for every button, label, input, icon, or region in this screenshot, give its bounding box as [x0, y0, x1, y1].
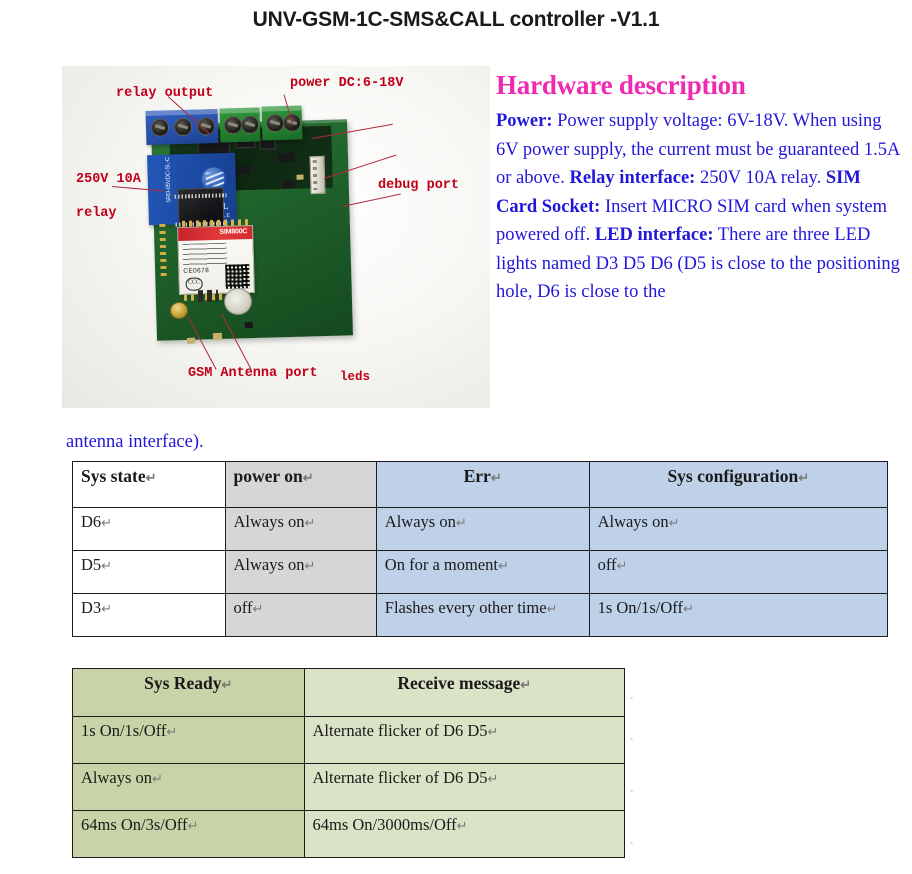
- annotation-relay-word: relay: [76, 206, 117, 221]
- cell-d5-sys-config: off↵: [589, 551, 887, 594]
- cell-text: 1s On/1s/Off: [598, 598, 683, 617]
- paragraph-mark: ↵: [221, 677, 232, 692]
- module-sticker-text: [183, 243, 228, 266]
- paragraph-mark: ↵: [188, 818, 199, 833]
- hardware-description-body: Power: Power supply voltage: 6V-18V. Whe…: [496, 107, 900, 307]
- cell-receive-alt-flicker-2: Alternate flicker of D6 D5↵: [304, 764, 624, 811]
- relay-interface-label: Relay interface:: [569, 168, 695, 188]
- cell-ready-always-on: Always on↵: [73, 764, 305, 811]
- paragraph-mark: ↵: [498, 558, 509, 573]
- cell-receive-alt-flicker-1: Alternate flicker of D6 D5↵: [304, 717, 624, 764]
- sys-state-table: Sys state↵ power on↵ Err↵ Sys configurat…: [72, 461, 888, 637]
- cell-d3-sys-config: 1s On/1s/Off↵: [589, 594, 887, 637]
- paragraph-mark: ↵: [798, 470, 809, 485]
- cell-text: off: [598, 555, 617, 574]
- cell-text: Always on: [234, 512, 305, 531]
- cell-text: Alternate flicker of D6 D5: [313, 721, 488, 740]
- cell-d5-err: On for a moment↵: [376, 551, 589, 594]
- relay-output-terminal-block: [146, 109, 219, 145]
- module-red-band: SIM800C: [178, 226, 252, 241]
- cell-d6-sys-config: Always on↵: [589, 508, 887, 551]
- paragraph-mark: ↵: [166, 724, 177, 739]
- cell-text: D6: [81, 512, 101, 531]
- cell-ready-1s-on: 1s On/1s/Off↵: [73, 717, 305, 764]
- cell-d6-power-on: Always on↵: [225, 508, 376, 551]
- cell-receive-64ms: 64ms On/3000ms/Off↵: [304, 811, 624, 858]
- paragraph-mark: ↵: [617, 558, 628, 573]
- cell-d5-name: D5↵: [73, 551, 226, 594]
- module-ccc-mark: CCC: [185, 277, 202, 290]
- cell-text: Always on: [81, 768, 152, 787]
- doc-artifact-mark: ·: [630, 837, 634, 849]
- smd-part-3: [296, 174, 303, 179]
- sim800c-module: SIM800C CE0678 CCC: [177, 225, 255, 295]
- debug-port-connector: [309, 156, 325, 194]
- module-cert-label: CE0678: [183, 267, 209, 275]
- terminal-screw: [174, 118, 192, 136]
- cell-text: D5: [81, 555, 101, 574]
- cell-text: 64ms On/3s/Off: [81, 815, 188, 834]
- relay-logo-bars: [206, 172, 224, 186]
- cell-text: Receive message: [397, 673, 520, 693]
- paragraph-mark: ↵: [457, 818, 468, 833]
- paragraph-mark: ↵: [305, 515, 316, 530]
- table-header-row: Sys state↵ power on↵ Err↵ Sys configurat…: [73, 462, 888, 508]
- cell-ready-64ms: 64ms On/3s/Off↵: [73, 811, 305, 858]
- cell-text: Sys Ready: [144, 673, 221, 693]
- cell-text: 64ms On/3000ms/Off: [313, 815, 457, 834]
- paragraph-mark: ↵: [101, 515, 112, 530]
- table-row: D6↵ Always on↵ Always on↵ Always on↵: [73, 508, 888, 551]
- paragraph-mark: ↵: [456, 515, 467, 530]
- table-header-row: Sys Ready↵ Receive message↵: [73, 669, 625, 717]
- table-row: Always on↵ Alternate flicker of D6 D5↵: [73, 764, 625, 811]
- paragraph-mark: ↵: [547, 601, 558, 616]
- cell-text: Always on: [385, 512, 456, 531]
- paragraph-mark: ↵: [101, 558, 112, 573]
- paragraph-mark: ↵: [491, 470, 502, 485]
- gsm-relay-board-figure: SRD-05VDC-SL-C UL SONGLE SIM800C CE0678 …: [62, 66, 490, 408]
- header-cell-sys-state: Sys state↵: [73, 462, 226, 508]
- paragraph-mark: ↵: [152, 771, 163, 786]
- paragraph-mark: ↵: [146, 470, 157, 485]
- paragraph-mark: ↵: [669, 515, 680, 530]
- table-row: 64ms On/3s/Off↵ 64ms On/3000ms/Off↵: [73, 811, 625, 858]
- paragraph-mark: ↵: [305, 558, 316, 573]
- cell-text: Sys configuration: [667, 466, 798, 486]
- module-name-label: SIM800C: [219, 228, 247, 236]
- cell-text: On for a moment: [385, 555, 498, 574]
- hardware-description-heading: Hardware description: [496, 70, 900, 101]
- cell-d3-name: D3↵: [73, 594, 226, 637]
- smd-part-1: [278, 153, 294, 163]
- power-terminal-block: [220, 107, 261, 142]
- smd-part-5: [187, 338, 195, 344]
- terminal-top-edge: [262, 105, 302, 111]
- cell-text: Sys state: [81, 466, 146, 486]
- module-qr-code: [225, 264, 250, 289]
- header-cell-receive-message: Receive message↵: [304, 669, 624, 717]
- paragraph-mark: ↵: [683, 601, 694, 616]
- cell-text: power on: [234, 466, 303, 486]
- paragraph-mark: ↵: [252, 601, 263, 616]
- cell-d5-power-on: Always on↵: [225, 551, 376, 594]
- annotation-gsm-antenna: GSM Antenna port: [188, 366, 318, 381]
- terminal-screw: [151, 118, 169, 136]
- annotation-relay-output: relay output: [116, 86, 213, 101]
- paragraph-mark: ↵: [520, 677, 531, 692]
- paragraph-mark: ↵: [488, 771, 499, 786]
- table-row: 1s On/1s/Off↵ Alternate flicker of D6 D5…: [73, 717, 625, 764]
- terminal-top-edge: [220, 107, 260, 113]
- header-cell-power-on: power on↵: [225, 462, 376, 508]
- table-row: D5↵ Always on↵ On for a moment↵ off↵: [73, 551, 888, 594]
- annotation-power-dc: power DC:6-18V: [290, 76, 403, 91]
- doc-artifact-mark: ·: [630, 733, 634, 745]
- led-indicators: [198, 290, 218, 303]
- cell-text: Err: [464, 466, 491, 486]
- cell-text: Always on: [598, 512, 669, 531]
- cell-d3-power-on: off↵: [225, 594, 376, 637]
- sys-ready-table: Sys Ready↵ Receive message↵ 1s On/1s/Off…: [72, 668, 625, 858]
- doc-artifact-mark: ·: [630, 785, 634, 797]
- paragraph-mark: ↵: [101, 601, 112, 616]
- trigger-terminal-block: [262, 105, 303, 140]
- annotation-relay-rating: 250V 10A: [76, 172, 141, 187]
- smd-part-7: [244, 322, 252, 328]
- hardware-description-continuation: antenna interface).: [66, 432, 204, 453]
- relay-interface-text: 250V 10A relay.: [695, 168, 821, 188]
- cell-d6-name: D6↵: [73, 508, 226, 551]
- table-row: D3↵ off↵ Flashes every other time↵ 1s On…: [73, 594, 888, 637]
- annotation-debug-port: debug port: [378, 178, 459, 193]
- paragraph-mark: ↵: [303, 470, 314, 485]
- paragraph-mark: ↵: [488, 724, 499, 739]
- terminal-screw: [266, 114, 284, 132]
- cell-text: 1s On/1s/Off: [81, 721, 166, 740]
- cell-d3-err: Flashes every other time↵: [376, 594, 589, 637]
- cell-text: off: [234, 598, 253, 617]
- header-cell-sys-configuration: Sys configuration↵: [589, 462, 887, 508]
- header-cell-err: Err↵: [376, 462, 589, 508]
- annotation-leds: leds: [340, 370, 370, 384]
- cell-d6-err: Always on↵: [376, 508, 589, 551]
- doc-artifact-mark: ·: [630, 692, 634, 704]
- cell-text: D3: [81, 598, 101, 617]
- header-cell-sys-ready: Sys Ready↵: [73, 669, 305, 717]
- terminal-screw: [224, 116, 242, 134]
- smd-part-4: [283, 181, 295, 189]
- cell-text: Alternate flicker of D6 D5: [313, 768, 488, 787]
- terminal-screw: [241, 115, 259, 133]
- page-title: UNV-GSM-1C-SMS&CALL controller -V1.1: [0, 8, 912, 32]
- power-label: Power:: [496, 111, 553, 131]
- led-interface-label: LED interface:: [595, 225, 714, 245]
- smd-part-6: [213, 333, 222, 340]
- cell-text: Flashes every other time: [385, 598, 547, 617]
- cell-text: Always on: [234, 555, 305, 574]
- hardware-description-section: Hardware description Power: Power supply…: [496, 70, 900, 307]
